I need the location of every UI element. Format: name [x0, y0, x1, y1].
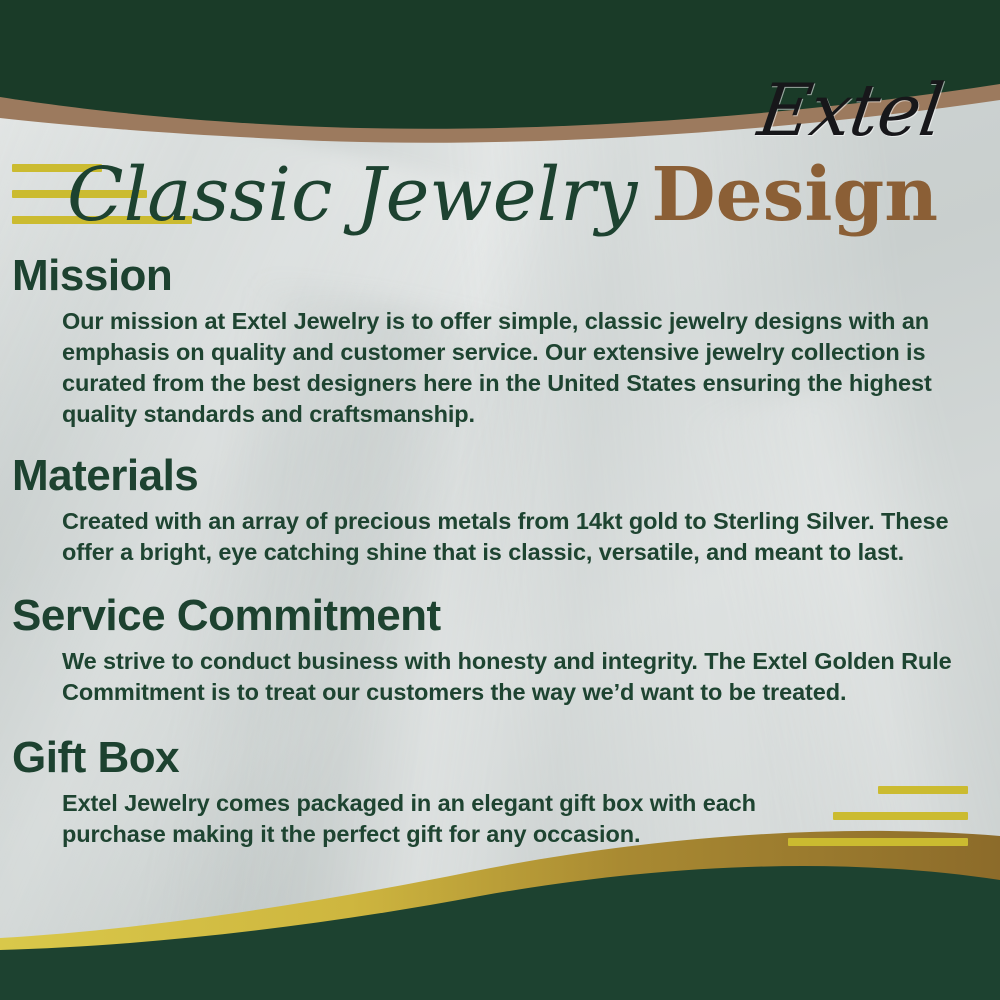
title-primary: Classic Jewelry — [67, 152, 637, 238]
section-body-gift-box: Extel Jewelry comes packaged in an elega… — [62, 788, 760, 850]
section-heading-service-commitment: Service Commitment — [12, 590, 1000, 642]
section-heading-gift-box: Gift Box — [12, 732, 1000, 784]
brand-logo-script: Extel — [0, 74, 947, 146]
section-heading-mission: Mission — [12, 250, 1000, 302]
section-body-service-commitment: We strive to conduct business with hones… — [62, 646, 966, 708]
section-body-mission: Our mission at Extel Jewelry is to offer… — [62, 306, 966, 430]
section-heading-materials: Materials — [12, 450, 1000, 502]
section-service-commitment: Service Commitment We strive to conduct … — [0, 590, 1000, 708]
title-secondary: Design — [651, 152, 938, 238]
content-sections: Mission Our mission at Extel Jewelry is … — [0, 250, 1000, 856]
section-body-materials: Created with an array of precious metals… — [62, 506, 966, 568]
section-gift-box: Gift Box Extel Jewelry comes packaged in… — [0, 732, 1000, 850]
section-materials: Materials Created with an array of preci… — [0, 450, 1000, 568]
section-mission: Mission Our mission at Extel Jewelry is … — [0, 250, 1000, 430]
poster-canvas: Extel Classic JewelryDesign Mission Our … — [0, 0, 1000, 1000]
poster-title: Classic JewelryDesign — [0, 158, 938, 232]
